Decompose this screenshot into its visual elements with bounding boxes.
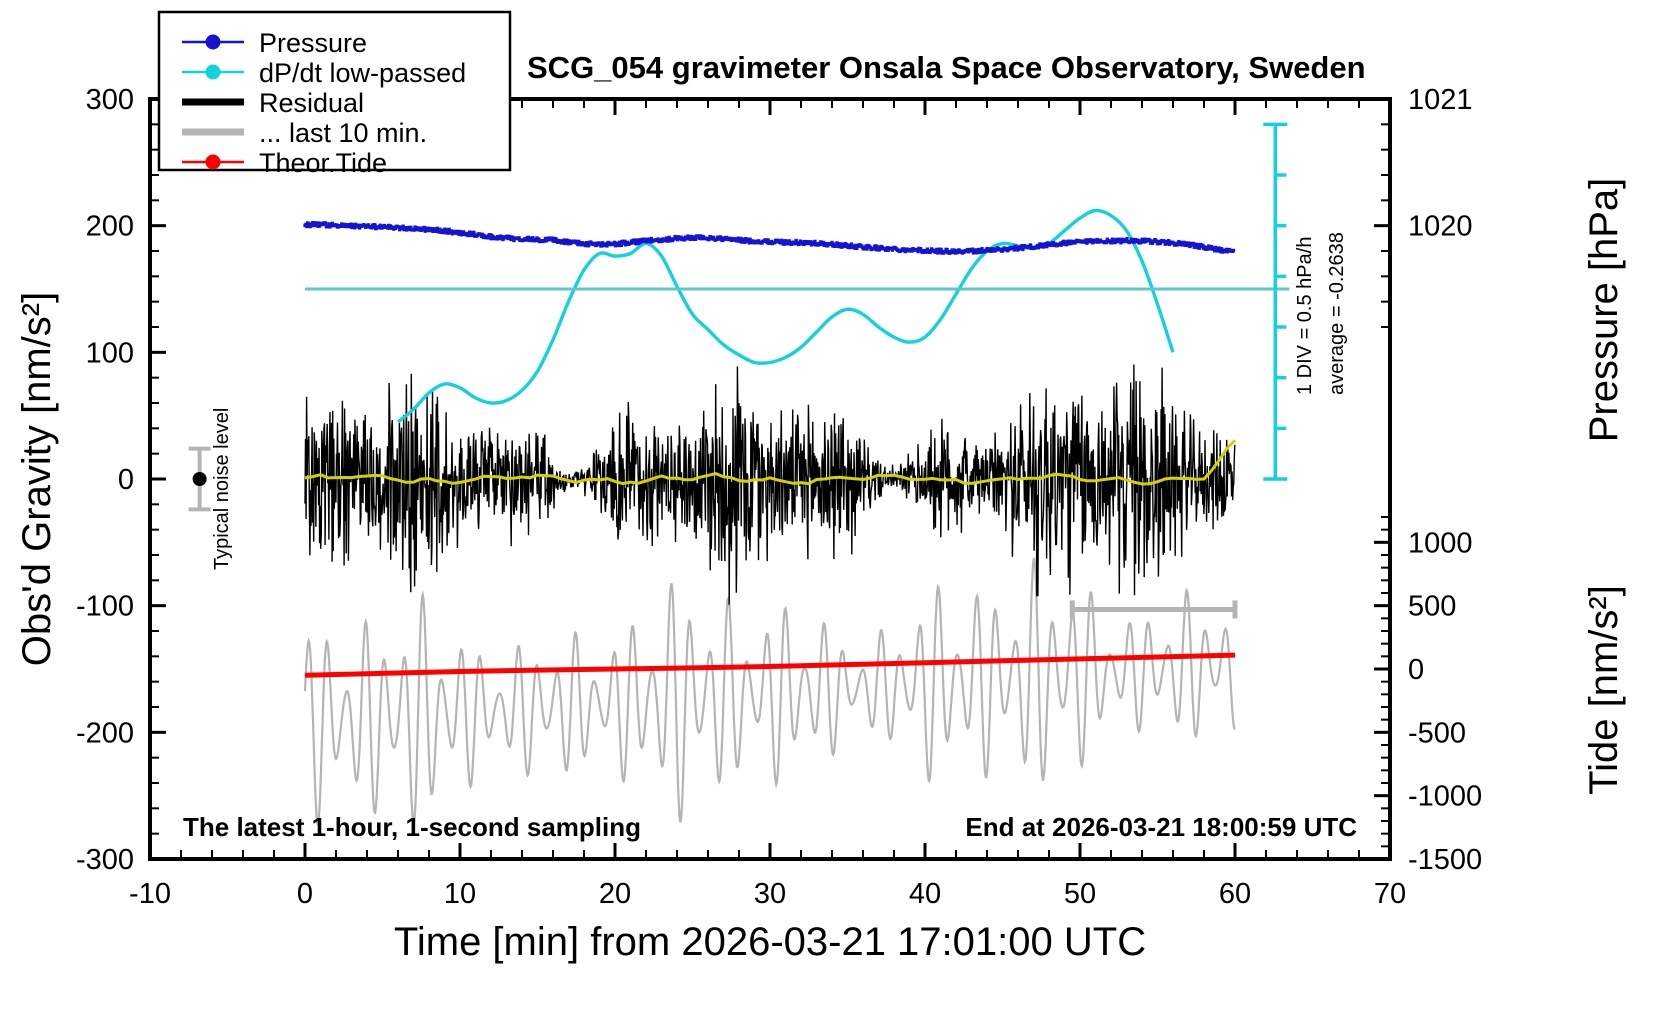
- chart-page: -10010203040506070 -300-200-100010020030…: [0, 0, 1660, 1020]
- x-tick-label: 0: [297, 878, 313, 910]
- legend-label-0[interactable]: Pressure: [259, 28, 367, 58]
- x-tick-label: 40: [909, 878, 941, 910]
- y-tick-label: 100: [86, 337, 134, 369]
- tide-tick-label: 500: [1408, 591, 1456, 623]
- y-tick-label: -200: [76, 717, 134, 749]
- gravimeter-chart: -10010203040506070 -300-200-100010020030…: [0, 0, 1660, 1020]
- legend-label-4[interactable]: Theor.Tide: [259, 148, 387, 178]
- x-axis-title: Time [min] from 2026-03-21 17:01:00 UTC: [394, 920, 1146, 964]
- x-tick-label: 70: [1374, 878, 1406, 910]
- x-tick-label: -10: [129, 878, 171, 910]
- pressure-tick-label: 1020: [1408, 211, 1473, 243]
- tide-tick-label: -1500: [1408, 844, 1482, 876]
- x-tick-label: 50: [1064, 878, 1096, 910]
- footer-left-label: The latest 1-hour, 1-second sampling: [183, 812, 641, 842]
- x-tick-label: 60: [1219, 878, 1251, 910]
- legend-label-1[interactable]: dP/dt low-passed: [259, 58, 466, 88]
- pressure-tick-label: 1021: [1408, 84, 1473, 116]
- legend-marker-4: [206, 155, 221, 170]
- legend-label-3[interactable]: ... last 10 min.: [259, 118, 427, 148]
- y-axis-title-tide: Tide [nm/s²]: [1582, 585, 1626, 795]
- y-tick-label: -100: [76, 591, 134, 623]
- footer-right-label: End at 2026-03-21 18:00:59 UTC: [965, 812, 1357, 842]
- scale-average-label: average = -0.2638: [1326, 232, 1348, 395]
- tide-tick-label: -500: [1408, 717, 1466, 749]
- tide-tick-label: 1000: [1408, 527, 1473, 559]
- legend-marker-1: [206, 65, 221, 80]
- y-tick-label: 300: [86, 84, 134, 116]
- y-axis-title-pressure: Pressure [hPa]: [1582, 178, 1626, 443]
- x-tick-label: 20: [599, 878, 631, 910]
- scale-div-label: 1 DIV = 0.5 hPa/h: [1294, 237, 1316, 395]
- x-tick-label: 30: [754, 878, 786, 910]
- tide-tick-label: -1000: [1408, 781, 1482, 813]
- y-tick-label: -300: [76, 844, 134, 876]
- x-tick-label: 10: [444, 878, 476, 910]
- typical-noise-level-label: Typical noise level: [211, 408, 233, 570]
- page-title: SCG_054 gravimeter Onsala Space Observat…: [527, 50, 1366, 85]
- y-tick-label: 200: [86, 211, 134, 243]
- legend-marker-0: [206, 35, 221, 50]
- tide-tick-label: 0: [1408, 654, 1424, 686]
- y-axis-title-left: Obs'd Gravity [nm/s²]: [15, 292, 59, 666]
- y-tick-label: 0: [118, 464, 134, 496]
- legend[interactable]: PressuredP/dt low-passedResidual... last…: [159, 12, 510, 178]
- legend-label-2[interactable]: Residual: [259, 88, 364, 118]
